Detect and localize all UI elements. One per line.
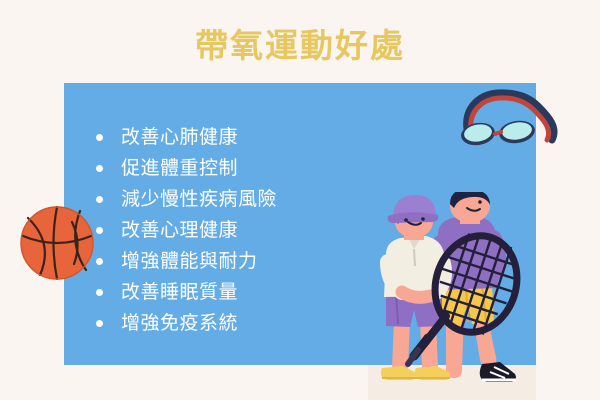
page-title: 帶氧運動好處 <box>0 26 600 66</box>
list-item: 改善睡眠質量 <box>96 277 396 308</box>
list-item: 改善心理健康 <box>96 215 396 246</box>
list-item-label: 改善睡眠質量 <box>121 282 238 304</box>
basketball-icon <box>20 206 94 280</box>
slide-canvas: 帶氧運動好處 改善心肺健康 促進體重控制 減少慢性疾病風險 改善心理健康 增強體… <box>0 0 600 400</box>
list-item: 增強免疫系統 <box>96 308 396 339</box>
benefits-list: 改善心肺健康 促進體重控制 減少慢性疾病風險 改善心理健康 增強體能與耐力 改善… <box>96 122 396 339</box>
list-item-label: 改善心理健康 <box>121 220 238 242</box>
bullet-dot-icon <box>96 320 103 327</box>
list-item: 增強體能與耐力 <box>96 246 396 277</box>
bullet-dot-icon <box>96 196 103 203</box>
bullet-dot-icon <box>96 258 103 265</box>
swimming-goggles-icon <box>452 88 570 150</box>
bullet-dot-icon <box>96 227 103 234</box>
bullet-dot-icon <box>96 165 103 172</box>
list-item: 促進體重控制 <box>96 153 396 184</box>
list-item-label: 增強免疫系統 <box>121 313 238 335</box>
list-item-label: 減少慢性疾病風險 <box>121 189 277 211</box>
list-item: 改善心肺健康 <box>96 122 396 153</box>
tennis-players-illustration <box>368 192 536 400</box>
list-item-label: 增強體能與耐力 <box>121 251 258 273</box>
list-item-label: 促進體重控制 <box>121 158 238 180</box>
bullet-dot-icon <box>96 134 103 141</box>
bullet-dot-icon <box>96 289 103 296</box>
list-item-label: 改善心肺健康 <box>121 127 238 149</box>
list-item: 減少慢性疾病風險 <box>96 184 396 215</box>
